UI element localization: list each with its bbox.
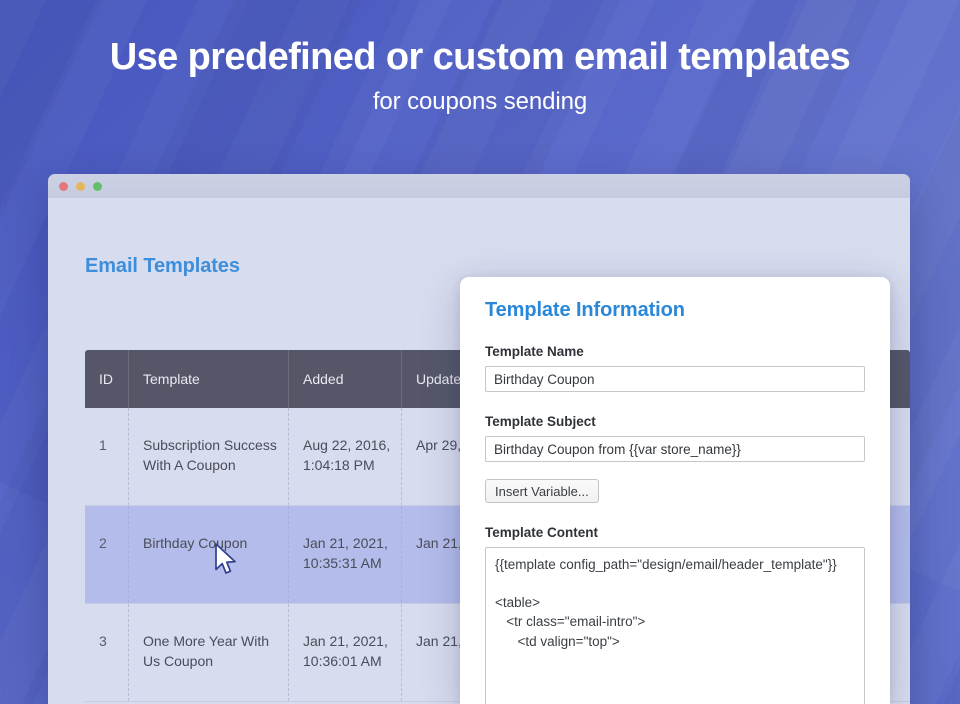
insert-variable-button[interactable]: Insert Variable... xyxy=(485,479,599,503)
template-name-label: Template Name xyxy=(485,344,865,359)
cell-template: One More Year With Us Coupon xyxy=(129,604,289,701)
template-subject-label: Template Subject xyxy=(485,414,865,429)
cell-id: 2 xyxy=(85,506,129,603)
template-subject-input[interactable]: Birthday Coupon from {{var store_name}} xyxy=(485,436,865,462)
template-information-panel: Template Information Template Name Birth… xyxy=(460,277,890,704)
panel-title: Template Information xyxy=(485,299,865,322)
column-header-added[interactable]: Added xyxy=(289,350,402,408)
minimize-dot[interactable] xyxy=(76,182,85,191)
column-header-template[interactable]: Template xyxy=(129,350,289,408)
template-content-textarea[interactable]: {{template config_path="design/email/hea… xyxy=(485,547,865,704)
cell-template: Subscription Success With A Coupon xyxy=(129,408,289,505)
page-title: Email Templates xyxy=(85,255,240,278)
cell-added: Jan 21, 2021, 10:35:31 AM xyxy=(289,506,402,603)
template-name-input[interactable]: Birthday Coupon xyxy=(485,366,865,392)
browser-titlebar xyxy=(48,174,910,198)
hero-text-block: Use predefined or custom email templates… xyxy=(0,0,960,116)
hero-headline: Use predefined or custom email templates xyxy=(0,36,960,79)
column-header-id[interactable]: ID xyxy=(85,350,129,408)
maximize-dot[interactable] xyxy=(93,182,102,191)
cell-template: Birthday Coupon xyxy=(129,506,289,603)
cell-id: 3 xyxy=(85,604,129,701)
cell-id: 1 xyxy=(85,408,129,505)
cell-added: Aug 22, 2016, 1:04:18 PM xyxy=(289,408,402,505)
hero-subheadline: for coupons sending xyxy=(0,88,960,116)
template-content-label: Template Content xyxy=(485,525,865,540)
close-dot[interactable] xyxy=(59,182,68,191)
cell-added: Jan 21, 2021, 10:36:01 AM xyxy=(289,604,402,701)
